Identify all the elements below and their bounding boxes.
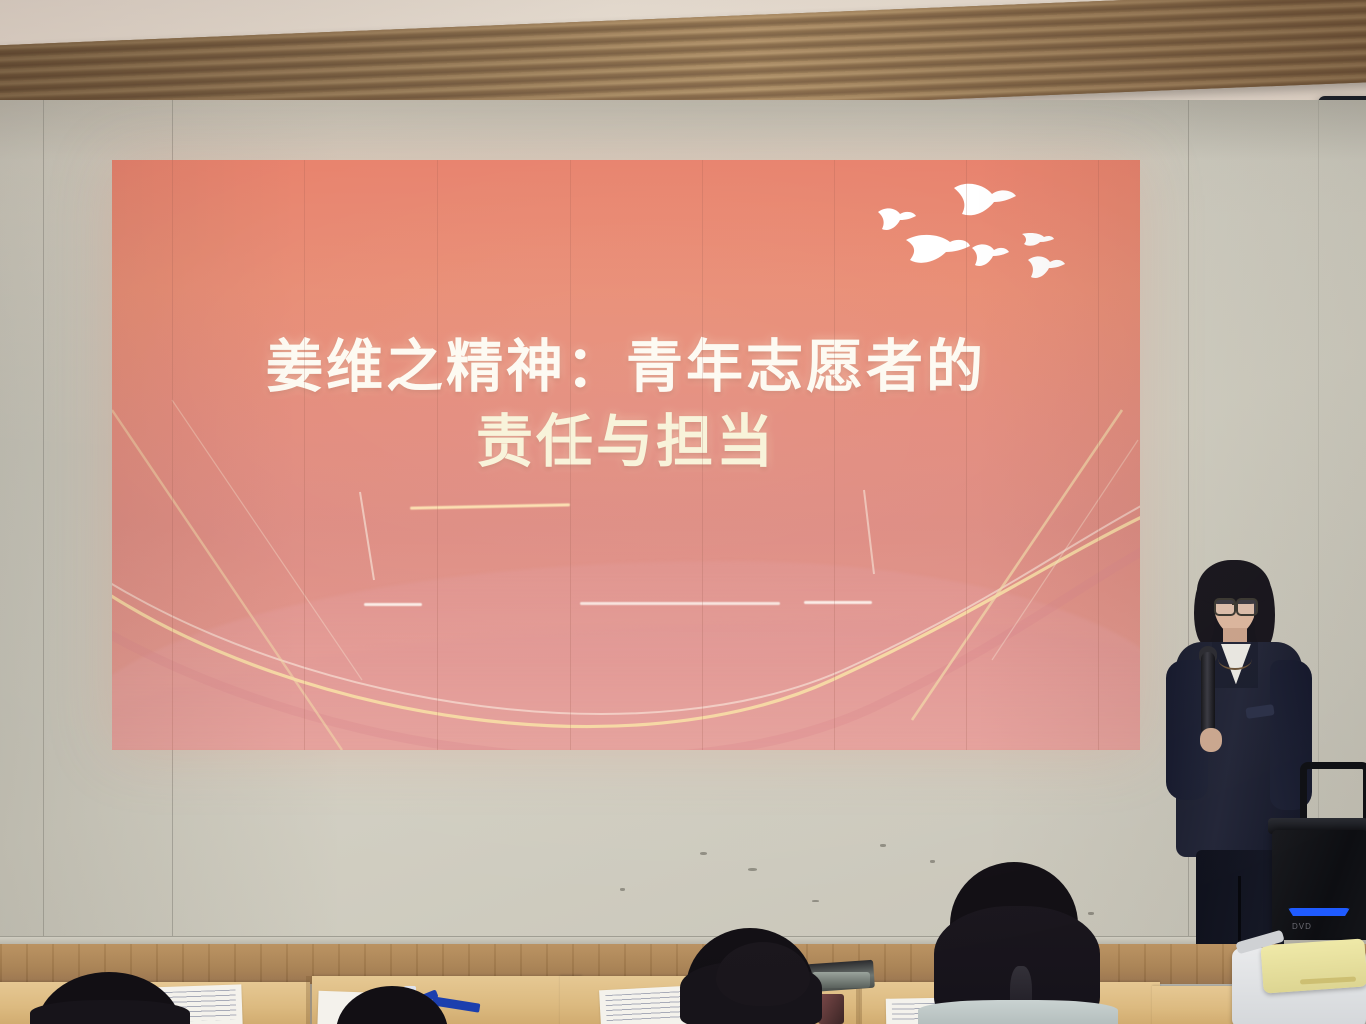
projection-panel-seam	[304, 160, 305, 750]
presenter-hair-fringe	[1197, 560, 1271, 604]
wall-speck	[880, 844, 886, 847]
glasses-icon	[1236, 598, 1258, 616]
slide-title-line-2: 责任与担当	[112, 405, 1140, 480]
projected-slide: 姜维之精神：青年志愿者的 责任与担当	[112, 160, 1140, 750]
desk-seam	[306, 976, 312, 1024]
presentation-photo-scene: 姜维之精神：青年志愿者的 责任与担当	[0, 0, 1366, 1024]
wall-speck	[620, 888, 625, 891]
presenter-necklace	[1218, 648, 1252, 670]
wall-speck	[930, 860, 935, 863]
slide-title-line-1: 姜维之精神：青年志愿者的	[266, 335, 986, 399]
wall-speck	[700, 852, 707, 855]
slide-title: 姜维之精神：青年志愿者的 责任与担当	[112, 330, 1140, 480]
presenter-hand	[1200, 728, 1222, 752]
wall-seam	[43, 100, 44, 960]
glasses-icon	[1214, 598, 1236, 616]
yellow-pouch	[1260, 938, 1366, 993]
case-label: DVD	[1292, 922, 1312, 931]
slide-decor-dash	[580, 602, 780, 605]
projection-panel-seam	[570, 160, 571, 750]
slide-decor-dash	[804, 601, 872, 604]
projection-panel-seam	[702, 160, 703, 750]
paper-sheet	[599, 986, 693, 1024]
projection-panel-seam	[437, 160, 438, 750]
projection-panel-seam	[172, 160, 173, 750]
projection-panel-seam	[834, 160, 835, 750]
audience-hair	[30, 1000, 190, 1024]
projection-panel-seam	[966, 160, 967, 750]
case-led-strip	[1288, 908, 1350, 916]
wall-speck	[1088, 912, 1094, 915]
wall-speck	[812, 900, 819, 902]
projection-panel-seam	[1098, 160, 1099, 750]
equipment-case	[1272, 830, 1366, 940]
wall-speck	[748, 868, 757, 871]
slide-decor-dash	[364, 603, 422, 606]
microphone-icon	[1201, 652, 1215, 736]
glasses-bridge	[1232, 603, 1238, 605]
paper-writing	[605, 991, 686, 1023]
audience-shoulder	[918, 1000, 1118, 1024]
